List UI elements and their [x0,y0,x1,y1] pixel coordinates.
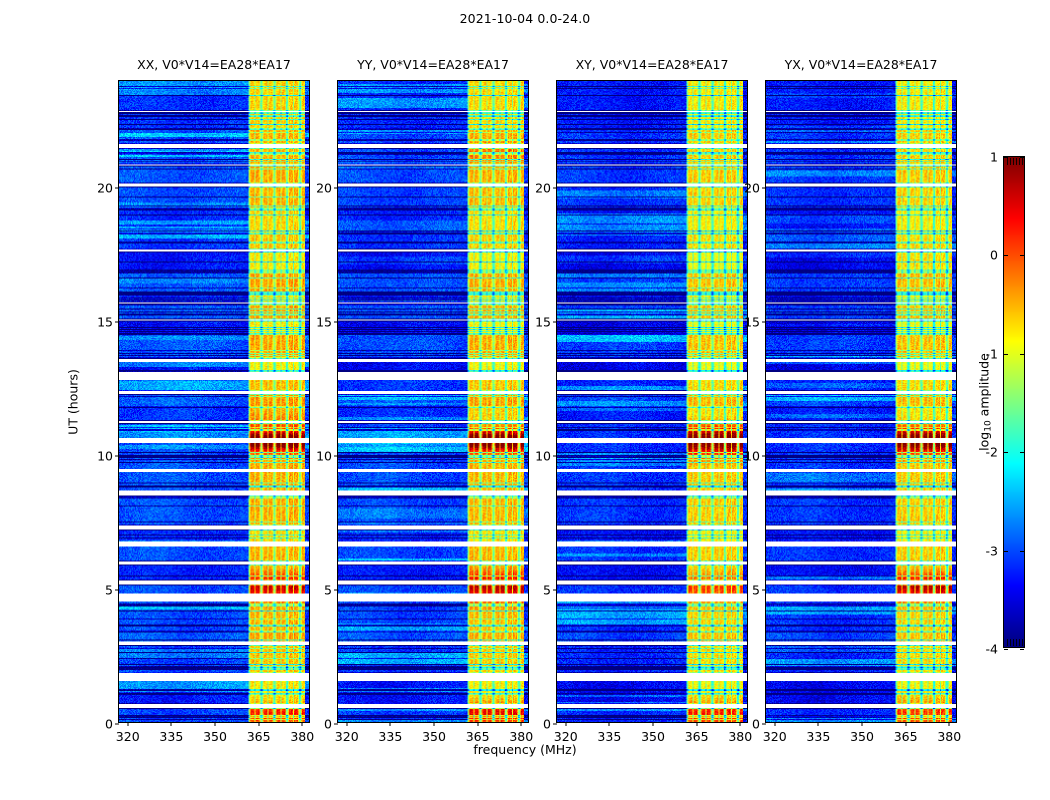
x-tick-mark [905,722,906,726]
y-tick-label-20: 20 [744,181,760,196]
y-tick-mark [553,456,557,457]
x-tick-mark [565,722,566,726]
x-tick-label-350: 350 [203,729,227,744]
figure-canvas: 2021-10-04 0.0-24.0 UT (hours) frequency… [0,0,1050,800]
panel-yy[interactable]: YY, V0*V14=EA28*EA17 0510152032033535036… [337,80,529,723]
y-tick-label-20: 20 [97,181,113,196]
y-tick-mark [553,188,557,189]
x-tick-label-380: 380 [937,729,961,744]
x-tick-mark [609,722,610,726]
y-tick-mark [115,456,119,457]
x-tick-mark [215,722,216,726]
x-tick-mark [740,722,741,726]
x-tick-label-380: 380 [728,729,752,744]
x-tick-label-320: 320 [335,729,359,744]
x-tick-label-350: 350 [422,729,446,744]
y-tick-label-5: 5 [752,583,760,598]
y-tick-label-15: 15 [316,315,332,330]
colorbar-label: log10 amplitude [977,353,992,451]
y-tick-mark [334,456,338,457]
x-tick-mark [477,722,478,726]
y-tick-mark [553,724,557,725]
x-tick-label-350: 350 [850,729,874,744]
heatmap-xy [557,81,747,722]
x-tick-label-365: 365 [894,729,918,744]
x-tick-label-380: 380 [509,729,533,744]
colorbar-tick-label--4: -4 [986,642,998,657]
y-tick-mark [334,188,338,189]
colorbar-label-subscript: 10 [984,420,994,431]
y-tick-mark [553,322,557,323]
x-tick-mark [818,722,819,726]
y-tick-label-20: 20 [316,181,332,196]
y-tick-mark [115,724,119,725]
heatmap-yx [766,81,956,722]
colorbar-gradient [1004,157,1024,647]
y-tick-label-0: 0 [105,717,113,732]
colorbar-tick-label--3: -3 [986,543,998,558]
colorbar-label-tail: amplitude [977,353,992,420]
x-tick-label-320: 320 [116,729,140,744]
y-tick-mark [762,456,766,457]
panel-title-yy: YY, V0*V14=EA28*EA17 [357,57,509,72]
x-tick-mark [653,722,654,726]
y-axis-label: UT (hours) [66,369,81,435]
y-tick-label-15: 15 [97,315,113,330]
x-tick-mark [127,722,128,726]
x-tick-label-335: 335 [597,729,621,744]
y-tick-mark [115,322,119,323]
x-axis-label: frequency (MHz) [0,742,1050,757]
colorbar-label-main: log [977,432,992,451]
x-tick-mark [258,722,259,726]
panel-title-xx: XX, V0*V14=EA28*EA17 [137,57,291,72]
x-tick-label-350: 350 [641,729,665,744]
y-tick-mark [115,188,119,189]
x-tick-mark [949,722,950,726]
colorbar-tick-label-1: 1 [990,150,998,165]
x-tick-mark [862,722,863,726]
y-tick-label-10: 10 [535,449,551,464]
x-tick-label-365: 365 [247,729,271,744]
panel-yx[interactable]: YX, V0*V14=EA28*EA17 0510152032033535036… [765,80,957,723]
x-tick-mark [302,722,303,726]
x-tick-label-320: 320 [763,729,787,744]
colorbar-tick-mark [1004,649,1024,650]
panel-title-yx: YX, V0*V14=EA28*EA17 [785,57,938,72]
x-tick-mark [171,722,172,726]
y-tick-mark [115,590,119,591]
x-tick-label-335: 335 [159,729,183,744]
y-tick-mark [762,590,766,591]
y-tick-label-5: 5 [105,583,113,598]
heatmap-yy [338,81,528,722]
panel-title-xy: XY, V0*V14=EA28*EA17 [576,57,729,72]
x-tick-label-335: 335 [378,729,402,744]
y-tick-mark [553,590,557,591]
heatmap-xx [119,81,309,722]
y-tick-label-10: 10 [316,449,332,464]
figure-suptitle: 2021-10-04 0.0-24.0 [0,11,1050,26]
y-tick-mark [762,188,766,189]
y-tick-label-0: 0 [543,717,551,732]
y-tick-label-20: 20 [535,181,551,196]
panel-xy[interactable]: XY, V0*V14=EA28*EA17 0510152032033535036… [556,80,748,723]
x-tick-mark [434,722,435,726]
colorbar-tick-label-0: 0 [990,248,998,263]
y-tick-mark [334,724,338,725]
y-tick-label-15: 15 [744,315,760,330]
y-tick-mark [762,724,766,725]
x-tick-mark [696,722,697,726]
y-tick-label-0: 0 [752,717,760,732]
y-tick-label-5: 5 [324,583,332,598]
x-tick-label-365: 365 [466,729,490,744]
y-tick-mark [334,590,338,591]
y-tick-label-5: 5 [543,583,551,598]
x-tick-label-365: 365 [685,729,709,744]
y-tick-mark [762,322,766,323]
x-tick-mark [521,722,522,726]
x-tick-mark [390,722,391,726]
panel-xx[interactable]: XX, V0*V14=EA28*EA17 0510152032033535036… [118,80,310,723]
y-tick-label-15: 15 [535,315,551,330]
x-tick-label-380: 380 [290,729,314,744]
colorbar[interactable]: -4-3-2-101 [1003,156,1025,648]
y-tick-label-10: 10 [97,449,113,464]
y-tick-mark [334,322,338,323]
x-tick-mark [346,722,347,726]
y-tick-label-10: 10 [744,449,760,464]
x-tick-mark [774,722,775,726]
x-tick-label-320: 320 [554,729,578,744]
y-tick-label-0: 0 [324,717,332,732]
x-tick-label-335: 335 [806,729,830,744]
